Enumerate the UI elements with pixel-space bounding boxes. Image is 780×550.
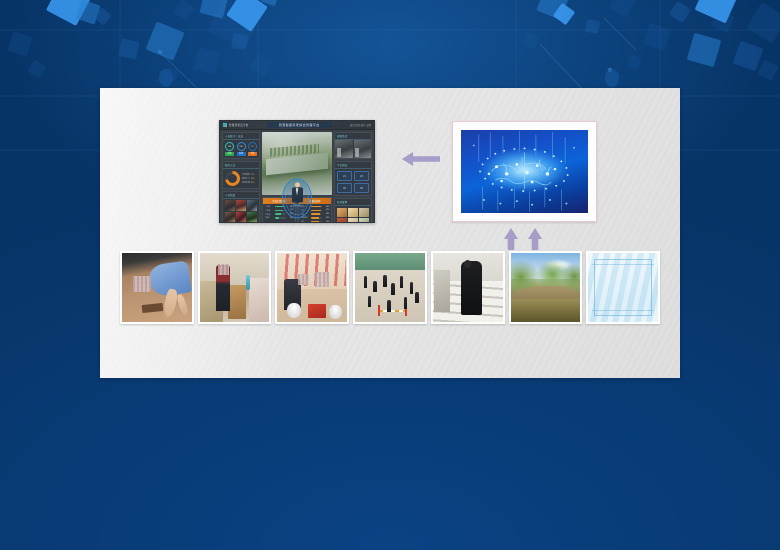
person-figure <box>364 276 367 288</box>
bar-line: 活动区 45% <box>265 216 294 219</box>
camera-split <box>335 140 371 158</box>
white-basin <box>287 303 301 318</box>
bar-track <box>275 213 286 214</box>
wooden-dresser <box>228 285 246 320</box>
bar-percent: 92% <box>323 209 330 211</box>
food-thumb[interactable] <box>348 208 358 217</box>
inner-frame-line <box>592 264 653 311</box>
person-figure <box>410 282 413 294</box>
legend-name: 机构护理 <box>242 182 250 184</box>
avatar-caption: 实时体征 <box>293 204 301 207</box>
dashboard-center-column: 区域告警统计 一号楼 86% 二号楼 74% <box>262 132 332 223</box>
bar-track <box>311 206 322 207</box>
food-thumb[interactable] <box>359 218 369 224</box>
slide-canvas: 智慧养老云平台 智慧健康养老综合管理平台 首页 监控 统计 设置 人员统计 / … <box>100 88 680 378</box>
photo-content <box>200 253 270 322</box>
photo-content <box>511 253 581 322</box>
vital-signs-avatar[interactable]: 实时体征 <box>282 178 312 218</box>
dashboard-right-column: 视频监控 今日指标 24 18 36 09 营养 <box>334 132 372 223</box>
white-basin <box>329 305 342 319</box>
camera-feed[interactable] <box>335 140 353 158</box>
legend-line: 日间照料 72% <box>242 173 257 176</box>
courtyard-crowd-photo[interactable] <box>353 251 427 324</box>
safety-barrier <box>379 310 407 313</box>
food-thumb[interactable] <box>359 208 369 217</box>
bar-track <box>275 217 286 218</box>
legend-line: 居家上门 18% <box>242 177 257 180</box>
hedge-background <box>355 253 425 270</box>
decorative-square <box>231 33 248 50</box>
red-container <box>308 304 326 318</box>
legend-value: 72% <box>251 174 255 176</box>
photo-strip <box>120 251 660 324</box>
gauges-panel: 人员统计 / 总览 248 在院 136 在线 12 告警 <box>222 132 260 159</box>
profile-thumb[interactable] <box>236 200 246 211</box>
photo-content <box>588 253 658 322</box>
gauges-panel-label: 人员统计 / 总览 <box>223 133 259 140</box>
walking-person-back <box>461 261 482 315</box>
willow-trees <box>511 259 581 289</box>
donut-wrap: 日间照料 72% 居家上门 18% 机构护理 10% <box>223 169 259 188</box>
bar-track <box>311 217 322 218</box>
gauge-item[interactable]: 136 在线 <box>237 142 246 156</box>
face-blur-mosaic <box>298 274 309 285</box>
bar-track <box>311 210 322 211</box>
dashboard-left-column: 人员统计 / 总览 248 在院 136 在线 12 告警 <box>222 132 260 223</box>
kpi-tile[interactable]: 09 <box>354 183 369 193</box>
profile-thumb[interactable] <box>236 212 246 223</box>
river-water <box>511 299 581 322</box>
person-figure <box>415 292 418 304</box>
person-figure <box>383 275 386 287</box>
profile-thumbs-panel: 人员档案 <box>222 191 260 223</box>
bar-percent: 98% <box>323 206 330 208</box>
bottle-object <box>246 275 250 290</box>
person-figure <box>404 297 407 309</box>
food-thumb[interactable] <box>337 218 347 224</box>
kpi-panel-label: 今日指标 <box>335 162 371 169</box>
elderly-group-activity-photo[interactable] <box>275 251 349 324</box>
bar-name: 活动区 <box>265 216 274 219</box>
dashboard-body: 人员统计 / 总览 248 在院 136 在线 12 告警 <box>220 130 374 223</box>
bar-track <box>275 210 286 211</box>
food-panel-label: 营养餐食 <box>335 199 371 206</box>
profile-thumb[interactable] <box>247 200 257 211</box>
kpi-tile[interactable]: 36 <box>337 183 352 193</box>
donut-chart[interactable] <box>225 171 240 186</box>
kpi-tile[interactable]: 18 <box>354 171 369 181</box>
dashboard-header: 智慧养老云平台 智慧健康养老综合管理平台 首页 监控 统计 设置 <box>220 121 374 130</box>
dashboard-title: 智慧健康养老综合管理平台 <box>267 122 332 128</box>
ai-neural-brain-image[interactable] <box>460 129 589 214</box>
photo-content <box>433 253 503 322</box>
abstract-blue-texture-photo[interactable] <box>586 251 660 324</box>
person-figure <box>368 296 371 308</box>
bar-name: 一号楼 <box>265 205 274 208</box>
profile-thumb[interactable] <box>225 200 235 211</box>
stair-railing <box>434 270 449 313</box>
profile-thumb[interactable] <box>225 212 235 223</box>
person-figure <box>400 276 403 288</box>
avatar <box>292 182 303 203</box>
bar-line: 跌倒雷达 80% <box>301 216 330 219</box>
food-panel: 营养餐食 <box>334 198 372 223</box>
riverside-park-photo[interactable] <box>509 251 583 324</box>
arrows-up-group <box>498 226 550 252</box>
arrow-up-icon <box>528 228 542 250</box>
camera-panel-label: 视频监控 <box>335 133 371 140</box>
avatar-head <box>295 182 300 187</box>
legend-name: 日间照料 <box>242 174 250 176</box>
donut-panel: 服务占比 日间照料 72% 居家上门 18% <box>222 161 260 189</box>
bar-percent: 76% <box>323 221 330 223</box>
person-head <box>464 260 472 268</box>
multicolor-logo-icon <box>223 123 227 127</box>
bar-percent: 80% <box>323 217 330 219</box>
bar-percent: 88% <box>323 213 330 215</box>
arm-shape <box>176 294 189 316</box>
ai-brain-frame <box>452 121 597 222</box>
food-grid <box>335 206 371 223</box>
legend-value: 18% <box>251 178 255 180</box>
person-figure <box>387 300 390 312</box>
gauge-row: 248 在院 136 在线 12 告警 <box>223 140 259 158</box>
donut-panel-label: 服务占比 <box>223 162 259 169</box>
stairs-walking-photo[interactable] <box>431 251 505 324</box>
neural-network-brain-graphic <box>461 130 588 213</box>
gauge-tag: 在线 <box>237 152 246 156</box>
legend-value: 10% <box>251 182 255 184</box>
kpi-panel: 今日指标 24 18 36 09 <box>334 161 372 196</box>
gauge-tag: 告警 <box>248 152 257 156</box>
floor-mat <box>141 303 163 313</box>
bed-right <box>249 278 270 322</box>
arrow-left-icon <box>400 148 444 170</box>
bar-name: 二号楼 <box>265 209 274 212</box>
profile-thumb[interactable] <box>247 212 257 223</box>
face-blur-mosaic <box>133 276 151 291</box>
profile-thumbs-label: 人员档案 <box>223 192 259 199</box>
barrier-pole <box>378 305 379 316</box>
bar-track <box>311 221 322 222</box>
photo-content <box>122 253 192 322</box>
face-blur-mosaic <box>218 264 229 275</box>
person-figure <box>391 283 394 295</box>
bar-name: 三号楼 <box>265 213 274 216</box>
decorative-square <box>118 38 139 59</box>
gauge-item[interactable]: 12 告警 <box>248 142 257 156</box>
kpi-grid: 24 18 36 09 <box>335 169 371 195</box>
elderly-room-monitoring-photo[interactable] <box>198 251 272 324</box>
profile-thumbs-grid <box>223 199 259 223</box>
avatar-body <box>292 187 303 202</box>
decorative-square <box>585 19 600 34</box>
photo-content <box>277 253 347 322</box>
face-blur-mosaic <box>315 272 329 287</box>
donut-legend: 日间照料 72% 居家上门 18% 机构护理 10% <box>242 173 257 184</box>
camera-panel: 视频监控 <box>334 132 372 159</box>
elderly-fall-detection-photo[interactable] <box>120 251 194 324</box>
legend-line: 机构护理 10% <box>242 181 257 184</box>
person-figure <box>373 281 376 293</box>
gauge-value: 12 <box>248 142 257 151</box>
food-thumb[interactable] <box>337 208 347 217</box>
photo-content <box>355 253 425 322</box>
monitoring-dashboard-screenshot[interactable]: 智慧养老云平台 智慧健康养老综合管理平台 首页 监控 统计 设置 人员统计 / … <box>219 120 375 223</box>
dashboard-brand: 智慧养老云平台 <box>229 123 249 127</box>
gauge-value: 248 <box>225 142 234 151</box>
gauge-value: 136 <box>237 142 246 151</box>
arrow-up-icon <box>504 228 518 250</box>
camera-feed[interactable] <box>354 140 372 158</box>
legend-name: 居家上门 <box>242 178 250 180</box>
dashboard-nav[interactable]: 首页 监控 统计 设置 <box>350 123 371 127</box>
gauge-item[interactable]: 248 在院 <box>225 142 234 156</box>
kpi-tile[interactable]: 24 <box>337 171 352 181</box>
bar-line: 红外 76% <box>301 220 330 223</box>
food-thumb[interactable] <box>348 218 358 224</box>
bar-track <box>311 213 322 214</box>
bar-name: 红外 <box>301 220 310 223</box>
gauge-tag: 在院 <box>225 152 234 156</box>
